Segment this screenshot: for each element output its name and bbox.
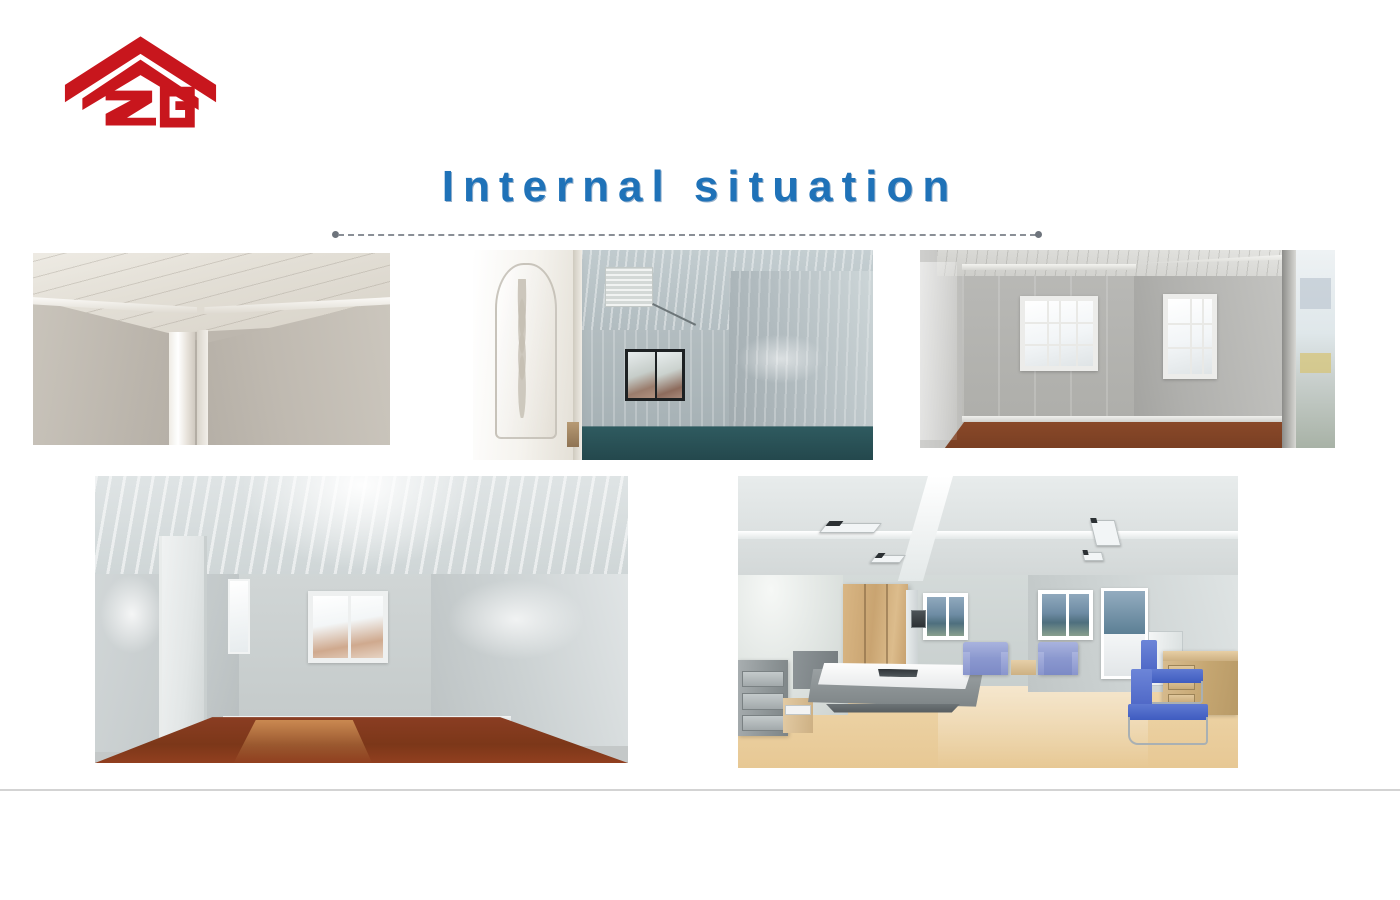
side-window-icon (228, 579, 249, 654)
photo-room-through-open-door[interactable] (473, 250, 873, 460)
footer-divider (0, 789, 1400, 791)
title-divider (332, 230, 1042, 239)
divider-right-cap-icon (1035, 231, 1042, 238)
window-icon (1038, 590, 1093, 640)
open-door-icon (1296, 250, 1335, 448)
photo-scene (95, 476, 628, 763)
nightstand-icon (783, 698, 813, 733)
doorway-icon (159, 536, 207, 754)
door-icon (473, 250, 573, 460)
armchair-icon (963, 642, 1008, 674)
book-icon (878, 669, 918, 678)
slide-canvas: Internal situation (0, 0, 1400, 900)
dresser-icon (738, 660, 788, 736)
ceiling-lamp-icon (1082, 552, 1104, 561)
ceiling-lamp-icon (870, 555, 906, 563)
office-chair-icon (1128, 669, 1208, 745)
window-icon (308, 591, 388, 663)
photo-scene (738, 476, 1238, 768)
window-icon (1020, 296, 1099, 371)
photo-room-with-two-windows[interactable] (920, 250, 1335, 448)
armchair-icon (1038, 642, 1078, 674)
photo-scene (33, 253, 390, 445)
page-title: Internal situation (0, 162, 1400, 212)
zg-logo-icon (63, 30, 218, 128)
photo-scene (473, 250, 873, 460)
ceiling-vent-icon (605, 267, 653, 307)
divider-dashed-line (338, 234, 1036, 236)
window-icon (625, 349, 685, 402)
photo-empty-glossy-room[interactable] (95, 476, 628, 763)
window-icon (923, 593, 968, 640)
photo-furnished-room-3d-render[interactable] (738, 476, 1238, 768)
photo-container-interior-corner[interactable] (33, 253, 390, 445)
side-table-icon (1011, 660, 1036, 675)
tv-icon (911, 610, 926, 628)
window-icon (1163, 294, 1217, 379)
ceiling-lamp-icon (819, 523, 882, 533)
photo-scene (920, 250, 1335, 448)
